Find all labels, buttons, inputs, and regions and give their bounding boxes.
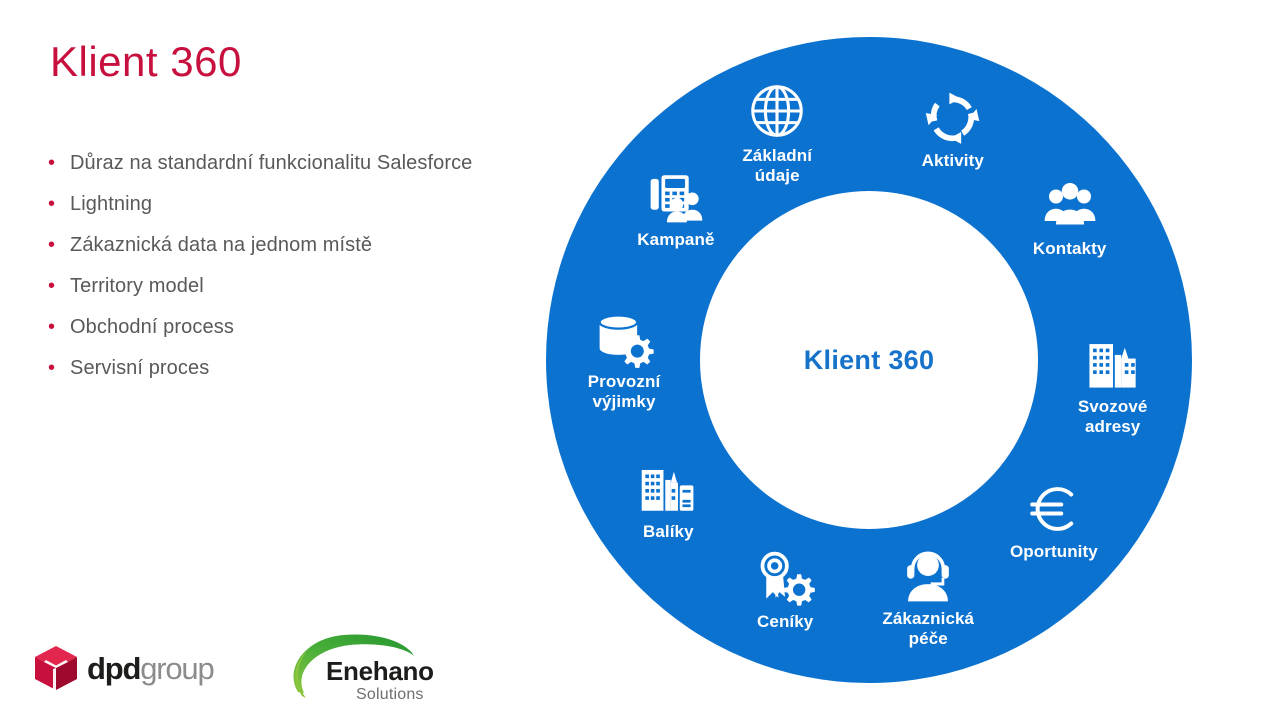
donut-node-label: Aktivity	[922, 151, 984, 171]
bullet-item-label: Důraz na standardní funkcionalitu Salesf…	[70, 148, 514, 178]
bullet-item: •Důraz na standardní funkcionalitu Sales…	[44, 148, 514, 178]
donut-node-label: Balíky	[643, 522, 694, 542]
donut-node-people-group[interactable]: Kontakty	[995, 179, 1145, 259]
donut-node-buildings-tower[interactable]: Balíky	[593, 460, 743, 542]
dpd-wordmark: dpdgroup	[87, 653, 214, 684]
dpd-group-logo: dpdgroup	[34, 645, 214, 691]
award-gear-icon	[755, 548, 815, 608]
buildings-icon	[1084, 335, 1142, 393]
bullet-item: •Lightning	[44, 189, 514, 219]
bullet-marker-icon: •	[44, 353, 70, 383]
bullet-item: •Territory model	[44, 271, 514, 301]
dpd-wordmark-light: group	[140, 651, 213, 686]
globe-icon	[746, 80, 808, 142]
page-title: Klient 360	[50, 38, 242, 86]
bullet-item-label: Obchodní process	[70, 312, 514, 342]
donut-node-label: Kampaně	[637, 230, 714, 250]
bullet-marker-icon: •	[44, 148, 70, 178]
bullet-item-label: Lightning	[70, 189, 514, 219]
donut-node-label: Základní údaje	[742, 146, 812, 186]
bullet-marker-icon: •	[44, 230, 70, 260]
donut-node-label: Provozní výjimky	[588, 372, 661, 412]
bullet-item: •Obchodní process	[44, 312, 514, 342]
donut-node-label: Kontakty	[1033, 239, 1107, 259]
bullet-item-label: Servisní proces	[70, 353, 514, 383]
enehano-solutions-logo: Enehano Solutions	[278, 630, 438, 710]
donut-node-award-gear[interactable]: Ceníky	[710, 548, 860, 632]
dpd-cube-icon	[34, 645, 78, 691]
dpd-wordmark-bold: dpd	[87, 651, 140, 686]
bullet-list: •Důraz na standardní funkcionalitu Sales…	[44, 148, 514, 394]
database-gear-icon	[594, 308, 654, 368]
euro-icon	[1023, 480, 1085, 538]
donut-node-database-gear[interactable]: Provozní výjimky	[549, 308, 699, 412]
enehano-sub-wordmark: Solutions	[356, 686, 424, 704]
donut-node-headset-agent[interactable]: Zákaznická péče	[853, 547, 1003, 649]
donut-node-label: Ceníky	[757, 612, 813, 632]
donut-node-phone-people[interactable]: Kampaně	[601, 168, 751, 250]
bullet-marker-icon: •	[44, 312, 70, 342]
bullet-marker-icon: •	[44, 271, 70, 301]
donut-node-buildings[interactable]: Svozové adresy	[1038, 335, 1188, 437]
donut-node-label: Oportunity	[1010, 542, 1098, 562]
donut-node-refresh-cycle[interactable]: Aktivity	[878, 89, 1028, 171]
donut-node-label: Zákaznická péče	[882, 609, 974, 649]
headset-agent-icon	[899, 547, 957, 605]
bullet-item-label: Zákaznická data na jednom místě	[70, 230, 514, 260]
bullet-item-label: Territory model	[70, 271, 514, 301]
klient360-donut-diagram: Klient 360 Základní údajeAktivityKontakt…	[546, 37, 1192, 683]
refresh-cycle-icon	[924, 89, 982, 147]
slide-root: Klient 360 •Důraz na standardní funkcion…	[0, 0, 1280, 720]
phone-people-icon	[645, 168, 707, 226]
bullet-marker-icon: •	[44, 189, 70, 219]
donut-node-label: Svozové adresy	[1078, 397, 1148, 437]
bullet-item: •Zákaznická data na jednom místě	[44, 230, 514, 260]
people-group-icon	[1039, 179, 1101, 235]
enehano-wordmark: Enehano	[326, 656, 434, 687]
bullet-item: •Servisní proces	[44, 353, 514, 383]
buildings-tower-icon	[639, 460, 697, 518]
